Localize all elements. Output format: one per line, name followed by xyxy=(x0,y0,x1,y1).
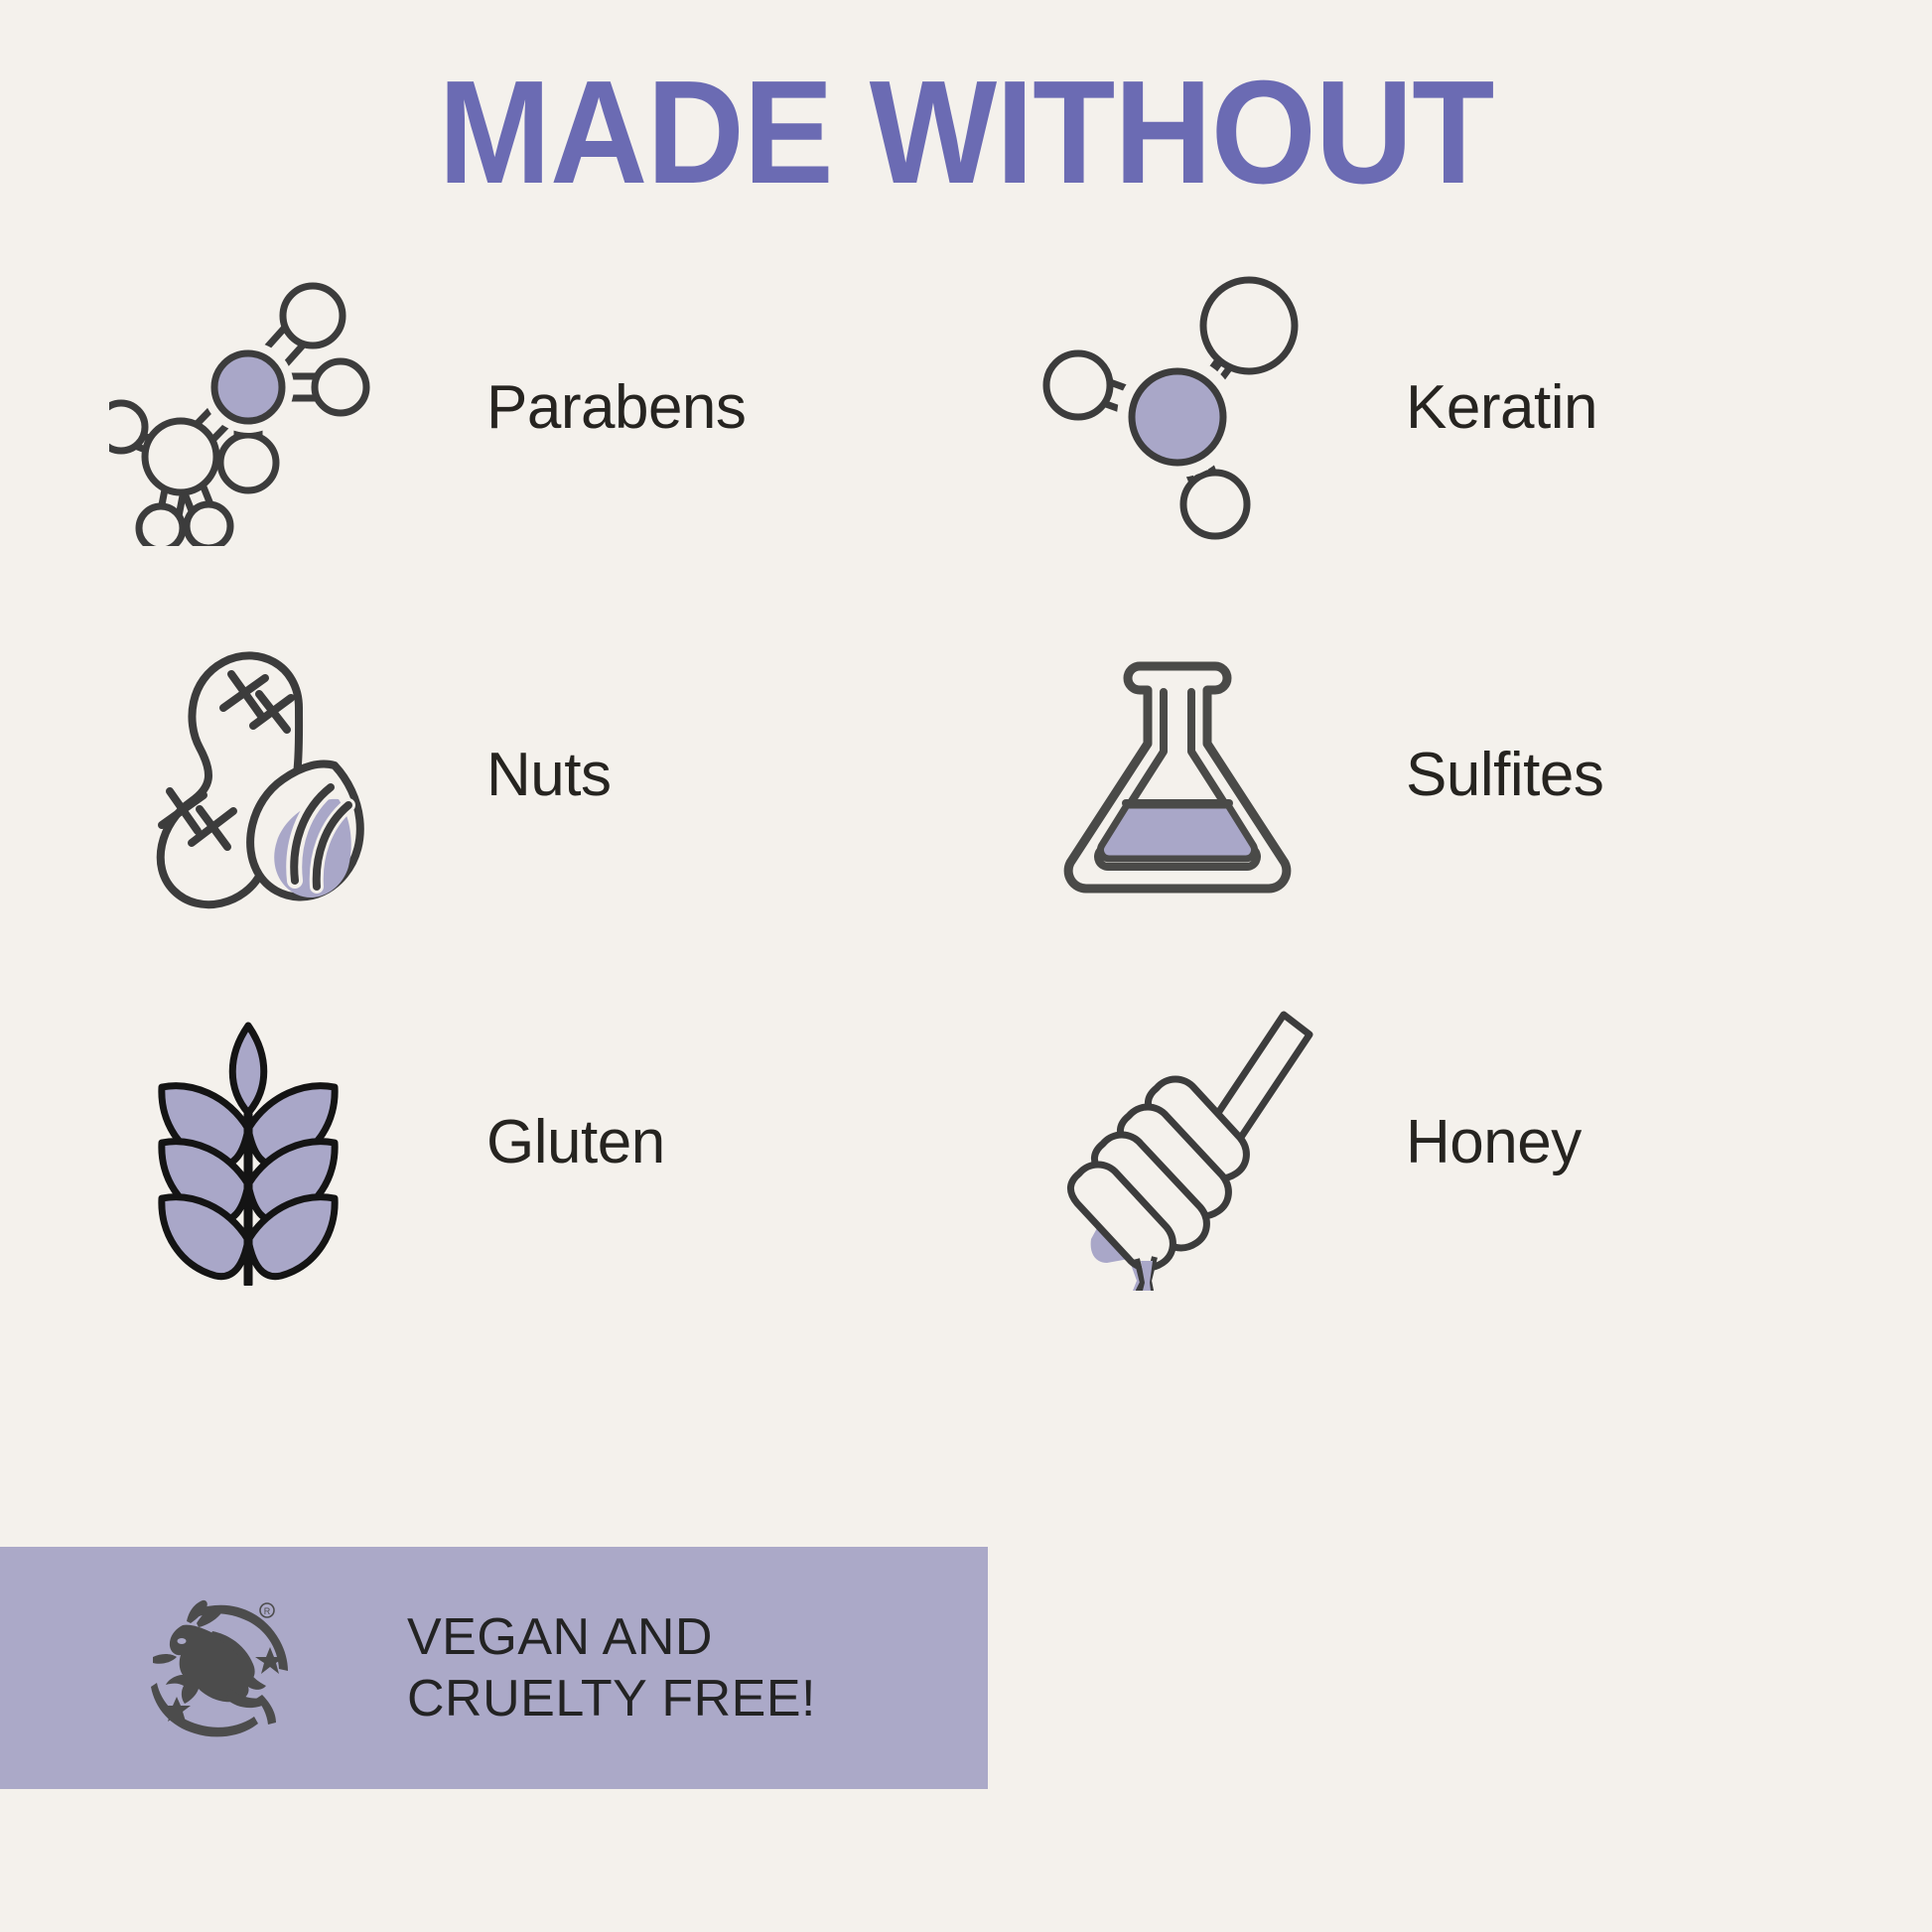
item-label-nuts: Nuts xyxy=(486,740,611,810)
item-sulfites: Sulfites xyxy=(1029,625,1603,923)
item-keratin: Keratin xyxy=(1029,258,1597,556)
infographic-canvas: MADE WITHOUT xyxy=(0,0,1932,1932)
peanut-almond-icon xyxy=(99,625,397,923)
molecule-branched-icon xyxy=(99,258,397,556)
banner-line-1: VEGAN AND xyxy=(407,1606,816,1668)
vegan-cruelty-free-banner: R VEGAN AND CRUELTY FREE! xyxy=(0,1547,988,1789)
item-nuts: Nuts xyxy=(99,625,611,923)
molecule-trigonal-icon xyxy=(1029,258,1326,556)
item-honey: Honey xyxy=(1029,993,1582,1291)
registered-mark-glyph: R xyxy=(264,1606,271,1616)
item-label-gluten: Gluten xyxy=(486,1107,665,1177)
item-parabens: Parabens xyxy=(99,258,746,556)
page-title: MADE WITHOUT xyxy=(77,60,1855,207)
wheat-stalk-icon xyxy=(99,993,397,1291)
leaping-bunny-icon: R xyxy=(139,1591,298,1745)
item-gluten: Gluten xyxy=(99,993,665,1291)
erlenmeyer-flask-icon xyxy=(1029,625,1326,923)
banner-line-2: CRUELTY FREE! xyxy=(407,1668,816,1729)
honey-dipper-icon xyxy=(1029,993,1326,1291)
item-label-sulfites: Sulfites xyxy=(1406,740,1603,810)
item-label-keratin: Keratin xyxy=(1406,372,1597,443)
item-label-parabens: Parabens xyxy=(486,372,746,443)
item-label-honey: Honey xyxy=(1406,1107,1582,1177)
banner-text: VEGAN AND CRUELTY FREE! xyxy=(407,1606,816,1730)
